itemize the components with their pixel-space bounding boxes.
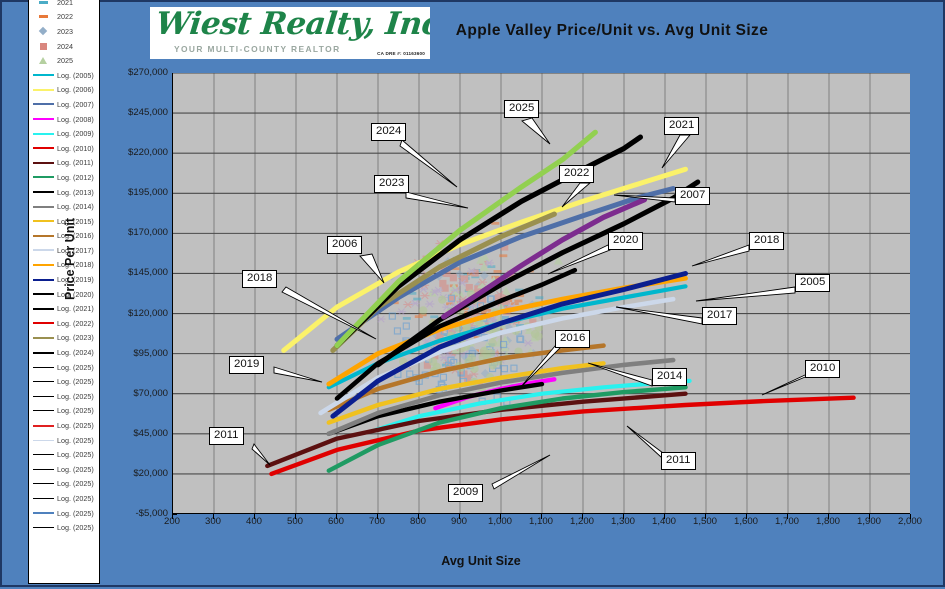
y-tick-label: $270,000 xyxy=(88,67,168,78)
trendline-swatch-icon xyxy=(32,230,54,242)
trendline-swatch-icon xyxy=(32,142,54,154)
callout-2025-0[interactable]: 2025 xyxy=(504,100,539,118)
trendline-swatch-icon xyxy=(32,317,54,329)
callout-2024-1[interactable]: 2024 xyxy=(371,123,406,141)
y-tick-label: $170,000 xyxy=(88,227,168,238)
trendline-swatch-icon xyxy=(32,347,54,359)
trendline-swatch-icon xyxy=(32,361,54,373)
trendline-swatch-icon xyxy=(32,128,54,140)
trendline-swatch-icon xyxy=(32,434,54,446)
callout-2009-18[interactable]: 2009 xyxy=(448,484,483,502)
x-tick-mark xyxy=(295,514,296,519)
dash-marker-icon xyxy=(32,11,54,23)
callout-2021-2[interactable]: 2021 xyxy=(664,117,699,135)
callout-2011-16[interactable]: 2011 xyxy=(209,427,244,445)
callout-2005-10[interactable]: 2005 xyxy=(795,274,830,292)
trendline-swatch-icon xyxy=(32,332,54,344)
x-tick-mark xyxy=(172,514,173,519)
trendline-swatch-icon xyxy=(32,215,54,227)
chart-title: Apple Valley Price/Unit vs. Avg Unit Siz… xyxy=(362,22,862,40)
plot-area[interactable] xyxy=(172,73,910,514)
trendline-swatch-icon xyxy=(32,478,54,490)
trendline-swatch-icon xyxy=(32,259,54,271)
gridlines xyxy=(173,73,910,514)
x-tick-mark xyxy=(500,514,501,519)
x-tick-mark xyxy=(254,514,255,519)
trendline-swatch-icon xyxy=(32,492,54,504)
callout-2018-9[interactable]: 2018 xyxy=(242,270,277,288)
legend-label: 2025 xyxy=(57,56,73,65)
y-tick-label: $20,000 xyxy=(88,468,168,479)
x-tick-mark xyxy=(582,514,583,519)
trendline-swatch-icon xyxy=(32,449,54,461)
legend-label: 2023 xyxy=(57,27,73,36)
x-tick-mark xyxy=(377,514,378,519)
x-tick-mark xyxy=(787,514,788,519)
trendline-swatch-icon xyxy=(32,376,54,388)
callout-2011-17[interactable]: 2011 xyxy=(661,452,696,470)
x-axis-title: Avg Unit Size xyxy=(341,554,621,568)
x-axis-ticklabels: 2003004005006007008009001,0001,1001,2001… xyxy=(2,516,945,536)
legend-label: 2022 xyxy=(57,12,73,21)
x-tick-mark xyxy=(336,514,337,519)
trendline-swatch-icon xyxy=(32,171,54,183)
callout-2018-8[interactable]: 2018 xyxy=(749,232,784,250)
logo-license-number: CA DRE #: 01163600 xyxy=(377,51,425,56)
trendlines xyxy=(267,132,853,474)
x-tick-mark xyxy=(541,514,542,519)
plot-canvas xyxy=(173,73,910,514)
callout-2014-14[interactable]: 2014 xyxy=(652,368,687,386)
y-axis-title: Price Per Unit xyxy=(63,189,77,329)
logo-tagline: YOUR MULTI-COUNTY REALTOR xyxy=(174,44,341,54)
x-tick-mark xyxy=(910,514,911,519)
trendline-swatch-icon xyxy=(32,390,54,402)
trendline-swatch-icon xyxy=(32,113,54,125)
callout-2006-6[interactable]: 2006 xyxy=(327,236,362,254)
y-tick-label: $70,000 xyxy=(88,388,168,399)
trendline-swatch-icon xyxy=(32,98,54,110)
callout-2022-4[interactable]: 2022 xyxy=(559,165,594,183)
trendline-swatch-icon xyxy=(32,84,54,96)
y-tick-label: $245,000 xyxy=(88,107,168,118)
legend-label: 2024 xyxy=(57,42,73,51)
callout-2010-15[interactable]: 2010 xyxy=(805,360,840,378)
callout-2023-3[interactable]: 2023 xyxy=(374,175,409,193)
y-tick-label: $95,000 xyxy=(88,348,168,359)
trendline-swatch-icon xyxy=(32,274,54,286)
x-tick-mark xyxy=(664,514,665,519)
trendline-swatch-icon xyxy=(32,201,54,213)
trendline-swatch-icon xyxy=(32,463,54,475)
dash-marker-icon xyxy=(32,0,54,8)
callout-2019-12[interactable]: 2019 xyxy=(229,356,264,374)
x-tick-mark xyxy=(705,514,706,519)
y-axis-ticklabels: $270,000$245,000$220,000$195,000$170,000… xyxy=(86,2,168,589)
y-tick-label: $220,000 xyxy=(88,147,168,158)
y-tick-label: $120,000 xyxy=(88,308,168,319)
callout-2007-5[interactable]: 2007 xyxy=(675,187,710,205)
y-tick-label: $145,000 xyxy=(88,267,168,278)
x-tick-mark xyxy=(418,514,419,519)
chart-window: 20212022202320242025 Log. (2005)Log. (20… xyxy=(0,0,945,587)
y-tick-label: $45,000 xyxy=(88,428,168,439)
trendline-swatch-icon xyxy=(32,244,54,256)
x-tick-mark xyxy=(459,514,460,519)
trendline-swatch-icon xyxy=(32,186,54,198)
callout-2017-11[interactable]: 2017 xyxy=(702,307,737,325)
trendline-swatch-icon xyxy=(32,69,54,81)
trendline-swatch-icon xyxy=(32,420,54,432)
diamond-marker-icon xyxy=(32,25,54,37)
callout-2020-7[interactable]: 2020 xyxy=(608,232,643,250)
trendline-swatch-icon xyxy=(32,303,54,315)
x-tick-mark xyxy=(869,514,870,519)
trendline-swatch-icon xyxy=(32,157,54,169)
x-tick-mark xyxy=(623,514,624,519)
triangle-marker-icon xyxy=(32,55,54,67)
square-marker-icon xyxy=(32,40,54,52)
y-tick-label: $195,000 xyxy=(88,187,168,198)
x-tick-mark xyxy=(213,514,214,519)
x-tick-mark xyxy=(746,514,747,519)
trendline-swatch-icon xyxy=(32,288,54,300)
x-tick-mark xyxy=(828,514,829,519)
legend-label: 2021 xyxy=(57,0,73,7)
trendline-swatch-icon xyxy=(32,405,54,417)
callout-2016-13[interactable]: 2016 xyxy=(555,330,590,348)
